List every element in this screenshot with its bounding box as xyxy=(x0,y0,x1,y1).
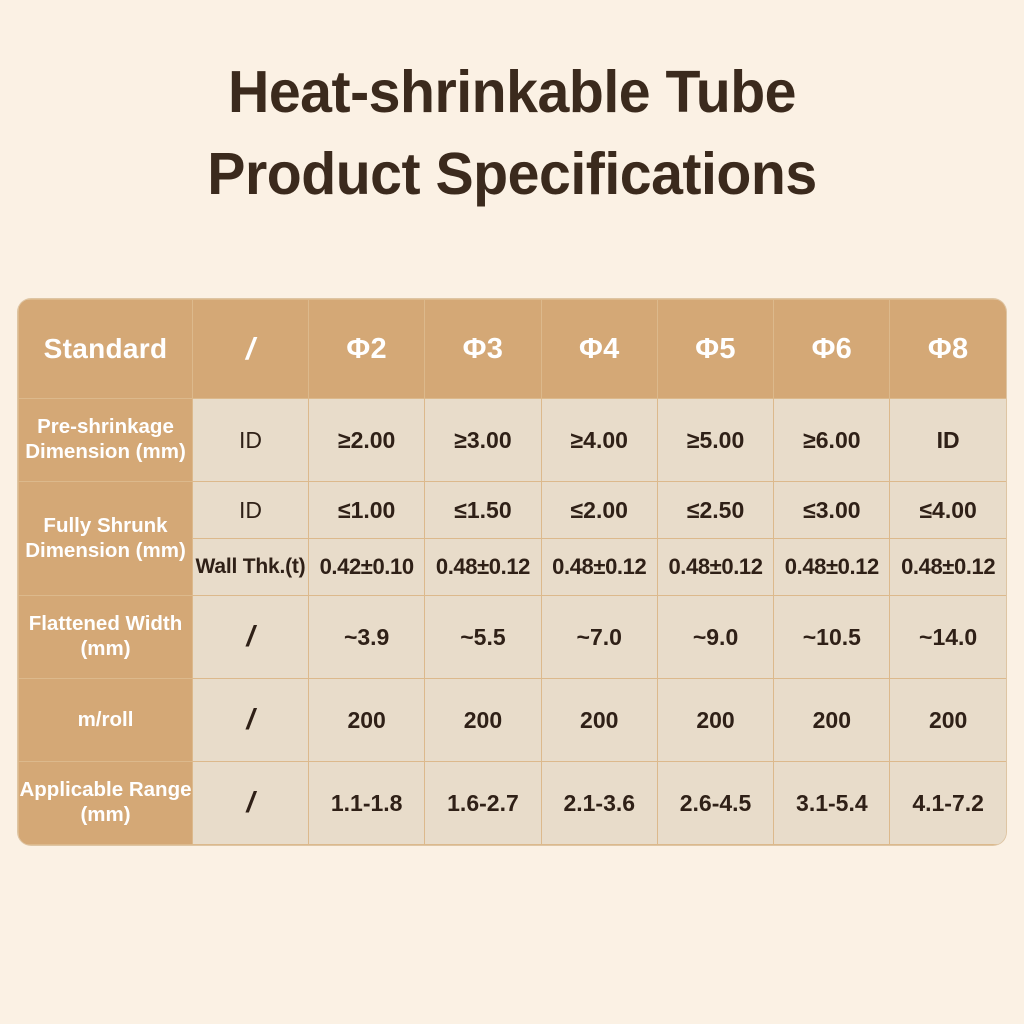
data-cell: ≥4.00 xyxy=(541,399,657,482)
data-cell: 200 xyxy=(890,679,1006,762)
table-row: Pre-shrinkage Dimension (mm)ID≥2.00≥3.00… xyxy=(19,399,1007,482)
table-row: m/roll/200200200200200200 xyxy=(19,679,1007,762)
data-cell: ≥5.00 xyxy=(657,399,773,482)
row-unit-cell: / xyxy=(193,596,309,679)
data-cell: ≥3.00 xyxy=(425,399,541,482)
data-cell: ≥2.00 xyxy=(309,399,425,482)
data-cell: ≤1.00 xyxy=(309,482,425,539)
row-label: Flattened Width (mm) xyxy=(19,596,193,679)
spec-sheet-page: Heat-shrinkable Tube Product Specificati… xyxy=(0,0,1024,1024)
data-cell: 0.48±0.12 xyxy=(657,539,773,596)
data-cell: 0.48±0.12 xyxy=(774,539,890,596)
data-cell: ~5.5 xyxy=(425,596,541,679)
data-cell: ~7.0 xyxy=(541,596,657,679)
table-body: Pre-shrinkage Dimension (mm)ID≥2.00≥3.00… xyxy=(19,399,1007,845)
data-cell: ≤2.50 xyxy=(657,482,773,539)
data-cell: 200 xyxy=(774,679,890,762)
row-unit-cell: / xyxy=(193,679,309,762)
column-header-diameter-2: Φ2 xyxy=(309,300,425,399)
data-cell: 2.6-4.5 xyxy=(657,762,773,845)
column-header-diameter-5: Φ5 xyxy=(657,300,773,399)
specifications-table-container: Standard/Φ2Φ3Φ4Φ5Φ6Φ8 Pre-shrinkage Dime… xyxy=(18,299,1006,845)
data-cell: 1.6-2.7 xyxy=(425,762,541,845)
data-cell: 3.1-5.4 xyxy=(774,762,890,845)
row-unit-cell: Wall Thk.(t) xyxy=(193,539,309,596)
table-header-row: Standard/Φ2Φ3Φ4Φ5Φ6Φ8 xyxy=(19,300,1007,399)
data-cell: 2.1-3.6 xyxy=(541,762,657,845)
data-cell: 200 xyxy=(541,679,657,762)
data-cell: 0.42±0.10 xyxy=(309,539,425,596)
data-cell: ≤1.50 xyxy=(425,482,541,539)
table-row: Applicable Range (mm)/1.1-1.81.6-2.72.1-… xyxy=(19,762,1007,845)
data-cell: 1.1-1.8 xyxy=(309,762,425,845)
column-header-diameter-4: Φ4 xyxy=(541,300,657,399)
data-cell: ~14.0 xyxy=(890,596,1006,679)
column-header-diameter-3: Φ3 xyxy=(425,300,541,399)
row-unit-cell: ID xyxy=(193,399,309,482)
data-cell: ≤4.00 xyxy=(890,482,1006,539)
title-line-1: Heat-shrinkable Tube xyxy=(15,62,1008,122)
row-label: Pre-shrinkage Dimension (mm) xyxy=(19,399,193,482)
data-cell: ≤3.00 xyxy=(774,482,890,539)
data-cell: 0.48±0.12 xyxy=(425,539,541,596)
row-unit-cell: / xyxy=(193,762,309,845)
row-label: Applicable Range (mm) xyxy=(19,762,193,845)
data-cell: 200 xyxy=(309,679,425,762)
table-head: Standard/Φ2Φ3Φ4Φ5Φ6Φ8 xyxy=(19,300,1007,399)
data-cell: 0.48±0.12 xyxy=(890,539,1006,596)
row-unit-cell: ID xyxy=(193,482,309,539)
data-cell: ~3.9 xyxy=(309,596,425,679)
column-header-diameter-7: Φ8 xyxy=(890,300,1006,399)
data-cell: ≥6.00 xyxy=(774,399,890,482)
data-cell: ~10.5 xyxy=(774,596,890,679)
data-cell: ~9.0 xyxy=(657,596,773,679)
data-cell: 200 xyxy=(425,679,541,762)
column-header-standard: Standard xyxy=(19,300,193,399)
data-cell: ID xyxy=(890,399,1006,482)
specifications-table: Standard/Φ2Φ3Φ4Φ5Φ6Φ8 Pre-shrinkage Dime… xyxy=(18,299,1006,845)
table-row: Flattened Width (mm)/~3.9~5.5~7.0~9.0~10… xyxy=(19,596,1007,679)
row-label: m/roll xyxy=(19,679,193,762)
data-cell: 200 xyxy=(657,679,773,762)
row-label: Fully Shrunk Dimension (mm) xyxy=(19,482,193,596)
data-cell: 4.1-7.2 xyxy=(890,762,1006,845)
column-header-unit: / xyxy=(193,300,309,399)
data-cell: 0.48±0.12 xyxy=(541,539,657,596)
title-line-2: Product Specifications xyxy=(15,144,1008,204)
data-cell: ≤2.00 xyxy=(541,482,657,539)
column-header-diameter-6: Φ6 xyxy=(774,300,890,399)
page-title: Heat-shrinkable Tube Product Specificati… xyxy=(0,0,1024,204)
table-row: Fully Shrunk Dimension (mm)ID≤1.00≤1.50≤… xyxy=(19,482,1007,539)
